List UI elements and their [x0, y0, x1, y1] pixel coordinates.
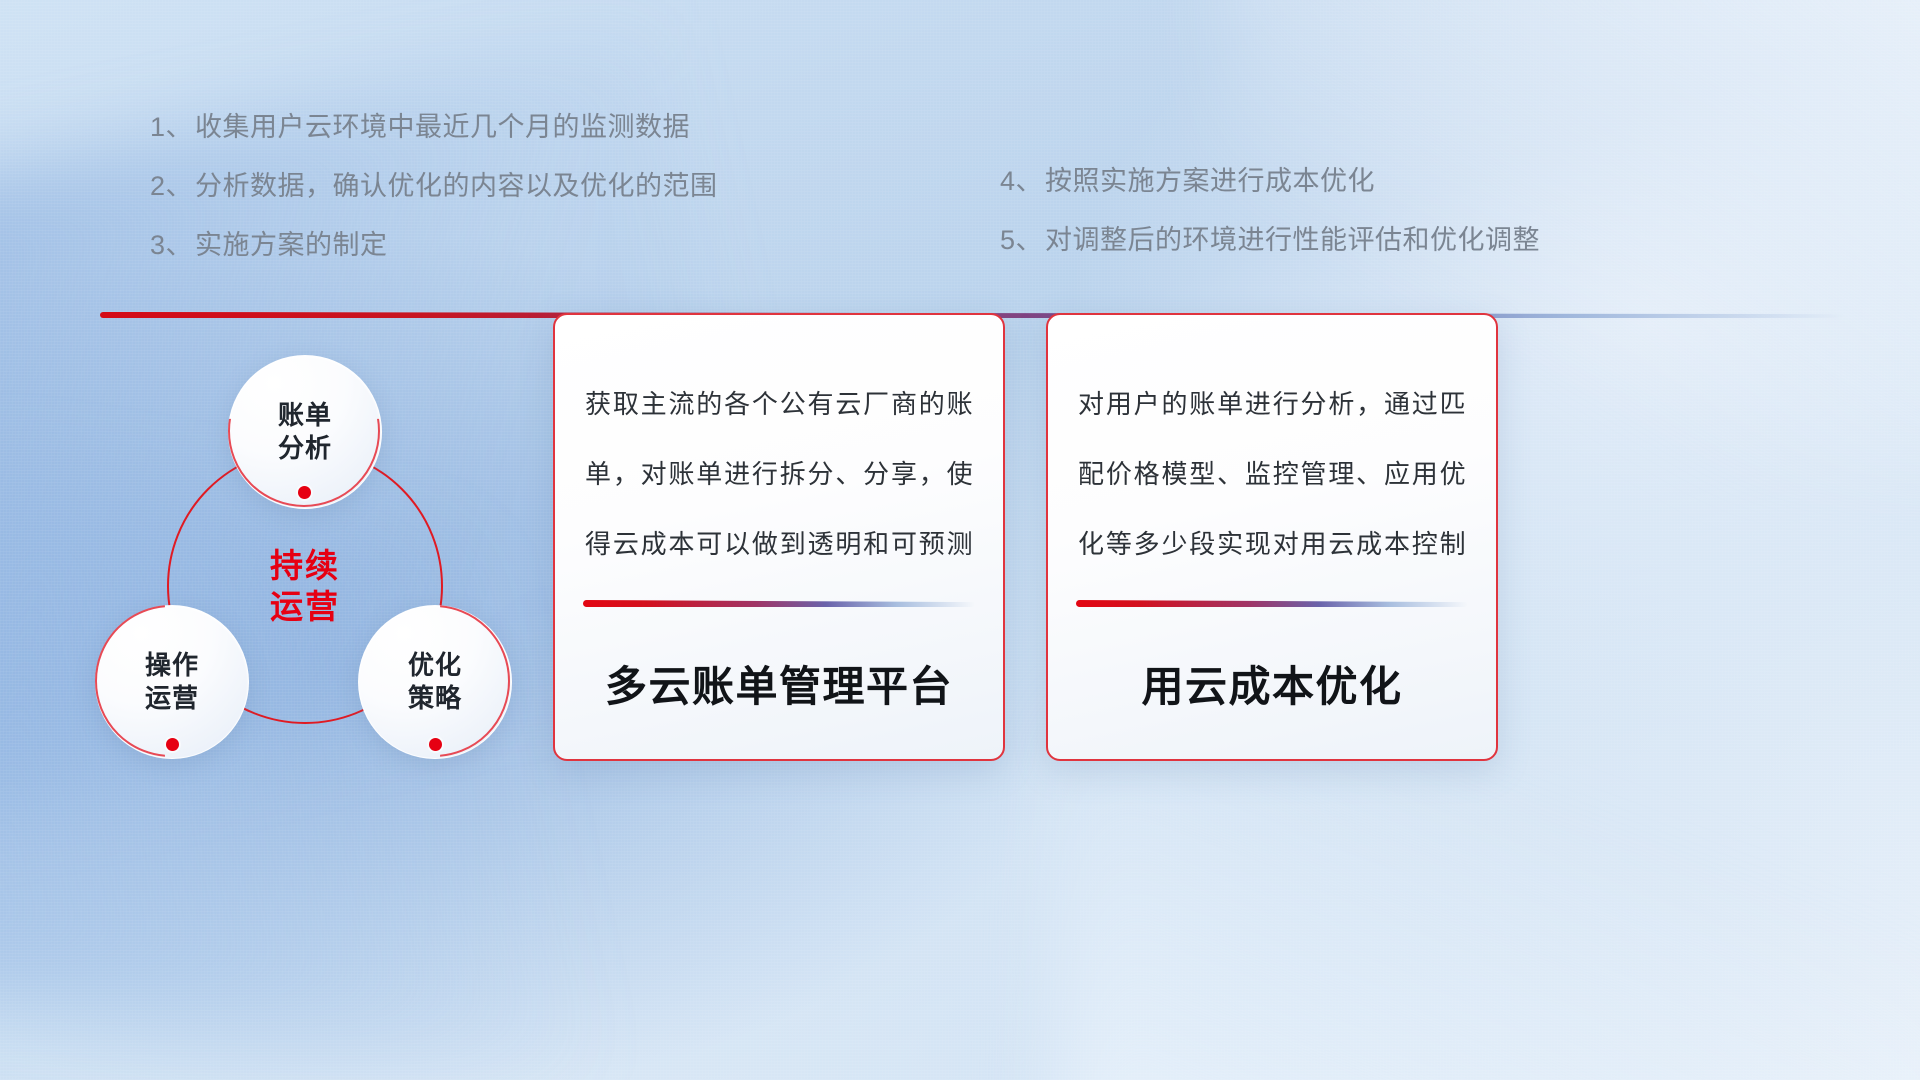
venn-center-label-line2: 运营 [270, 588, 340, 625]
feature-card-cost-optimization[interactable]: 对用户的账单进行分析，通过匹配价格模型、监控管理、应用优化等多少段实现对用云成本… [1046, 313, 1498, 761]
process-step-3-text: 实施方案的制定 [195, 230, 388, 260]
feature-card-multicloud-billing-title: 多云账单管理平台 [585, 653, 973, 714]
feature-card-cost-optimization-body: 对用户的账单进行分析，通过匹配价格模型、监控管理、应用优化等多少段实现对用云成本… [1078, 369, 1466, 579]
feature-card-cost-optimization-title: 用云成本优化 [1078, 653, 1466, 714]
venn-center-label-line1: 持续 [270, 547, 340, 584]
process-step-3: 3、实施方案的制定 [150, 216, 718, 275]
feature-card-multicloud-billing-body: 获取主流的各个公有云厂商的账单，对账单进行拆分、分享，使得云成本可以做到透明和可… [585, 369, 973, 579]
feature-card-multicloud-billing[interactable]: 获取主流的各个公有云厂商的账单，对账单进行拆分、分享，使得云成本可以做到透明和可… [553, 313, 1005, 761]
process-steps-list: 1、收集用户云环境中最近几个月的监测数据 2、分析数据，确认优化的内容以及优化的… [0, 0, 1920, 300]
process-step-2: 2、分析数据，确认优化的内容以及优化的范围 [150, 157, 718, 216]
process-step-2-text: 分析数据，确认优化的内容以及优化的范围 [195, 171, 718, 201]
process-step-5-number: 5、 [1000, 225, 1043, 255]
feature-card-multicloud-billing-rule [583, 600, 975, 607]
venn-diagram: 账单 分析 操作 运营 优化 策略 持续 运营 [95, 355, 595, 915]
process-step-1-number: 1、 [150, 112, 193, 142]
process-steps-column-left: 1、收集用户云环境中最近几个月的监测数据 2、分析数据，确认优化的内容以及优化的… [150, 98, 718, 275]
venn-node-bill-analysis-line1: 账单 [278, 400, 332, 430]
feature-card-cost-optimization-rule [1076, 600, 1468, 607]
process-step-4-text: 按照实施方案进行成本优化 [1045, 166, 1375, 196]
process-step-1: 1、收集用户云环境中最近几个月的监测数据 [150, 98, 718, 157]
process-step-3-number: 3、 [150, 230, 193, 260]
process-step-4-number: 4、 [1000, 166, 1043, 196]
process-step-4: 4、按照实施方案进行成本优化 [1000, 152, 1540, 211]
venn-connector-dot-right [429, 738, 442, 751]
process-steps-column-right: 4、按照实施方案进行成本优化 5、对调整后的环境进行性能评估和优化调整 [1000, 152, 1540, 270]
slide-canvas: 1、收集用户云环境中最近几个月的监测数据 2、分析数据，确认优化的内容以及优化的… [0, 0, 1920, 1080]
venn-connector-dot-top [298, 486, 311, 499]
venn-connector-dot-left [166, 738, 179, 751]
process-step-5: 5、对调整后的环境进行性能评估和优化调整 [1000, 211, 1540, 270]
process-step-1-text: 收集用户云环境中最近几个月的监测数据 [195, 112, 690, 142]
process-step-5-text: 对调整后的环境进行性能评估和优化调整 [1045, 225, 1540, 255]
process-step-2-number: 2、 [150, 171, 193, 201]
